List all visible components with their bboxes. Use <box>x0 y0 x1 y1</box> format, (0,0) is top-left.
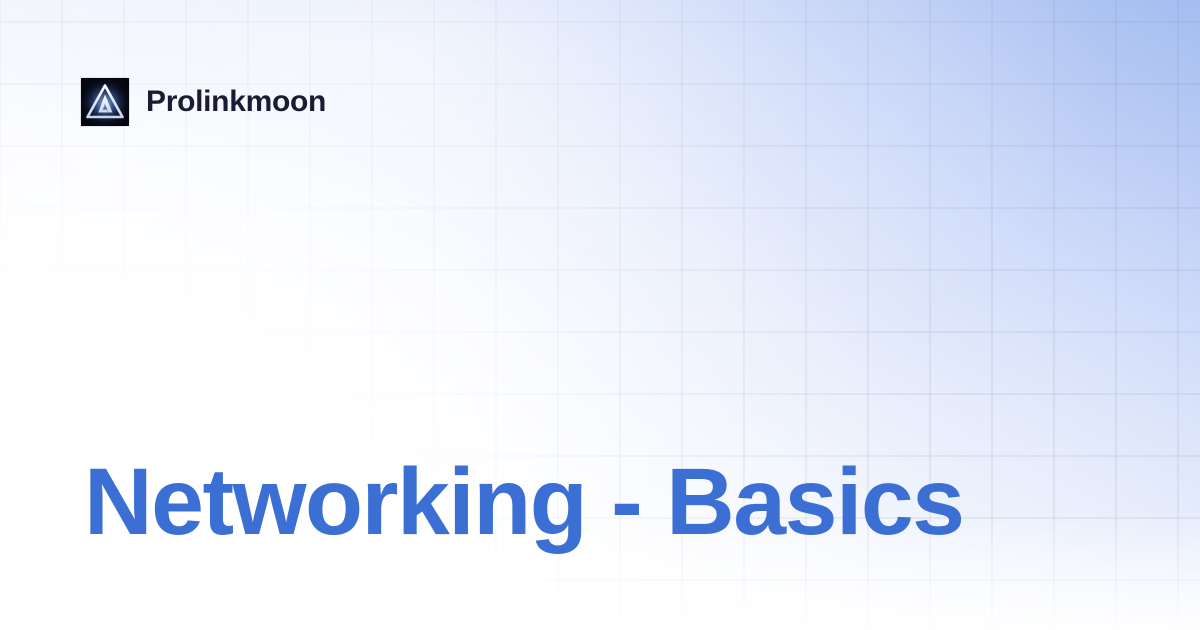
triangle-glow-icon <box>81 78 129 126</box>
brand-name: Prolinkmoon <box>146 87 326 117</box>
og-card: Prolinkmoon Networking - Basics <box>0 0 1200 630</box>
brand-lockup: Prolinkmoon <box>81 78 326 126</box>
card-content: Prolinkmoon Networking - Basics <box>0 0 1200 630</box>
page-title: Networking - Basics <box>84 455 1124 550</box>
